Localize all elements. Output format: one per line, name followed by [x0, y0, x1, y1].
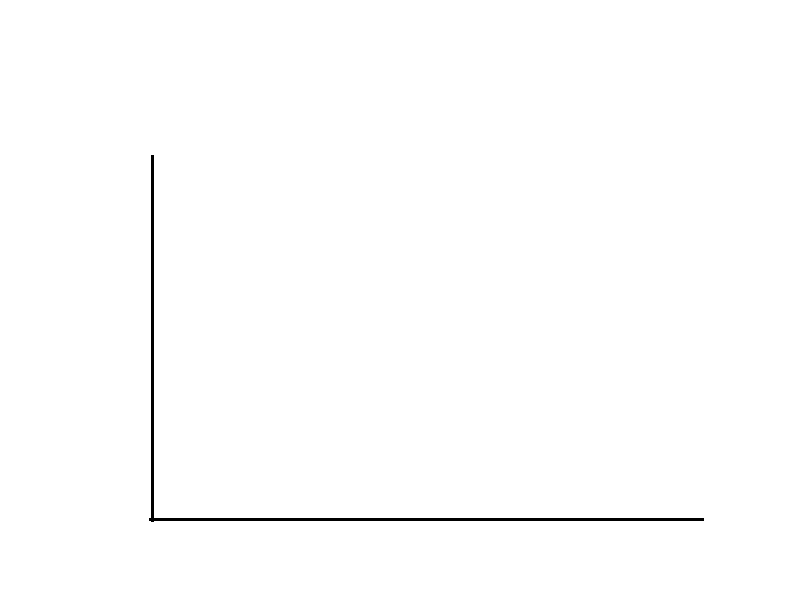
elisa-chart-figure: [0, 0, 800, 600]
data-plot-layer: [0, 0, 800, 600]
